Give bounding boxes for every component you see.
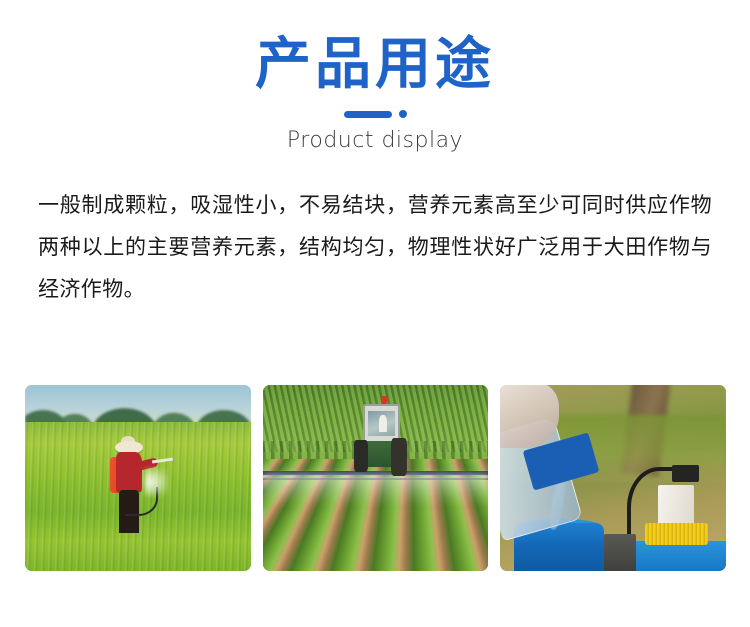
- product-description: 一般制成颗粒，吸湿性小，不易结块，营养元素高至少可同时供应作物两种以上的主要营养…: [38, 184, 712, 310]
- hose-nozzle-icon: [672, 465, 699, 482]
- tractor-wheel-right: [391, 438, 407, 476]
- farmer-figure: [106, 441, 169, 545]
- yellow-pump-cap: [645, 523, 708, 545]
- photo-mixing-chemical-into-tank: [500, 385, 726, 571]
- spray-mist: [145, 468, 168, 496]
- pump-cylinder: [658, 485, 694, 526]
- product-gallery: [25, 385, 726, 571]
- tractor-driver: [379, 415, 387, 432]
- divider-dot-icon: [399, 110, 407, 118]
- photo-farmer-knapsack-sprayer: [25, 385, 251, 571]
- page-header: 产品用途 Product display: [0, 0, 750, 154]
- shoulder-strap: [604, 534, 636, 571]
- divider-bar-icon: [344, 111, 392, 118]
- title-divider: [0, 110, 750, 118]
- page-title: 产品用途: [0, 34, 750, 96]
- page-subtitle: Product display: [0, 128, 750, 154]
- red-shirt: [116, 452, 141, 492]
- tractor-wheel-left: [354, 440, 368, 473]
- tractor: [353, 404, 407, 486]
- photo-tractor-boom-sprayer: [263, 385, 489, 571]
